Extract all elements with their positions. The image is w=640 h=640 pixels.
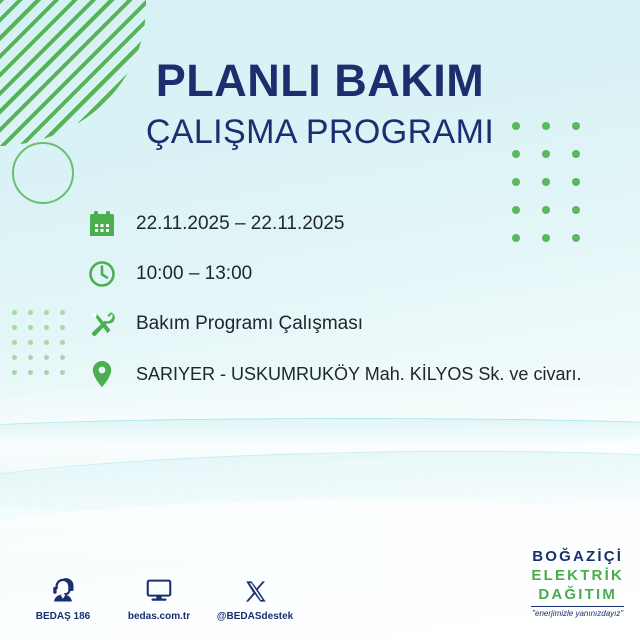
info-row-time: 10:00 – 13:00 bbox=[86, 250, 620, 298]
wave-decoration-3 bbox=[0, 443, 640, 521]
info-row-date-text: 22.11.2025 – 22.11.2025 bbox=[136, 213, 345, 235]
footer-item-twitter[interactable]: @BEDASdestek bbox=[218, 571, 292, 622]
footer-item-website-label: bedas.com.tr bbox=[128, 611, 190, 622]
logo-line-dagitim: DAĞITIM bbox=[531, 587, 624, 602]
info-row-location: SARIYER - USKUMRUKÖY Mah. KİLYOS Sk. ve … bbox=[86, 350, 620, 398]
monitor-icon bbox=[144, 571, 174, 605]
info-row-location-text: SARIYER - USKUMRUKÖY Mah. KİLYOS Sk. ve … bbox=[136, 364, 581, 385]
footer-item-website[interactable]: bedas.com.tr bbox=[122, 571, 196, 622]
clock-icon bbox=[86, 255, 124, 293]
logo-line-elektrik: ELEKTRİK bbox=[531, 568, 624, 583]
poster-heading: PLANLI BAKIM ÇALIŞMA PROGRAMI bbox=[0, 58, 640, 149]
planned-maintenance-poster: PLANLI BAKIM ÇALIŞMA PROGRAMI 22 bbox=[0, 0, 640, 640]
info-row-worktype-text: Bakım Programı Çalışması bbox=[136, 313, 363, 335]
bedas-logo: BOĞAZİÇİ ELEKTRİK DAĞITIM "enerjimizle y… bbox=[531, 549, 624, 618]
logo-line-bogazici: BOĞAZİÇİ bbox=[531, 549, 624, 564]
wave-decoration-2 bbox=[0, 418, 640, 445]
info-row-time-text: 10:00 – 13:00 bbox=[136, 263, 252, 285]
logo-tagline: "enerjimizle yanınızdayız" bbox=[531, 610, 624, 618]
support-headset-icon bbox=[48, 571, 78, 605]
location-pin-icon bbox=[86, 355, 124, 393]
logo-divider bbox=[531, 606, 624, 607]
calendar-icon bbox=[86, 205, 124, 243]
footer-item-twitter-label: @BEDASdestek bbox=[217, 611, 293, 622]
page-subtitle: ÇALIŞMA PROGRAMI bbox=[0, 115, 640, 149]
footer-item-phone[interactable]: BEDAŞ 186 bbox=[26, 571, 100, 622]
dot-grid-left-decoration bbox=[12, 310, 76, 385]
info-row-worktype: Bakım Programı Çalışması bbox=[86, 300, 620, 348]
tools-icon bbox=[86, 305, 124, 343]
footer-contacts: BEDAŞ 186 bedas.com.tr bbox=[26, 571, 292, 622]
info-row-date: 22.11.2025 – 22.11.2025 bbox=[86, 200, 620, 248]
page-title: PLANLI BAKIM bbox=[0, 58, 640, 103]
circle-outline-decoration bbox=[12, 142, 74, 204]
info-list: 22.11.2025 – 22.11.2025 10:00 – 13:00 bbox=[86, 200, 620, 400]
footer-item-phone-label: BEDAŞ 186 bbox=[36, 611, 90, 622]
x-twitter-icon bbox=[242, 571, 269, 605]
